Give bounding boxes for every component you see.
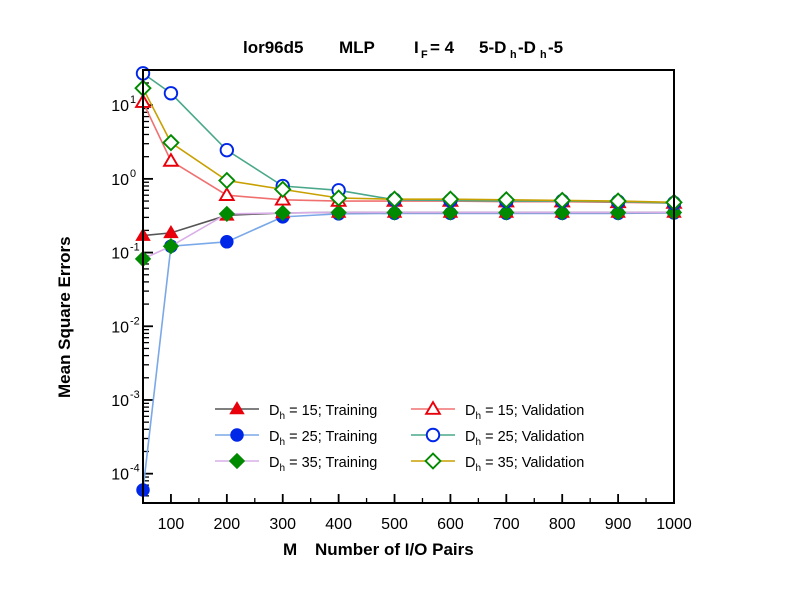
title-arch-c: -5	[548, 38, 563, 57]
title-model: MLP	[339, 38, 375, 57]
x-tick-label: 400	[325, 516, 352, 533]
title-arch-a: 5-D	[479, 38, 506, 57]
x-tick-label: 500	[381, 516, 408, 533]
y-tick-label: 10	[111, 98, 129, 115]
title-arch-b: -D	[518, 38, 536, 57]
figure-background	[0, 0, 785, 601]
title-arch-sub1: h	[510, 49, 517, 61]
y-tick-label: 10	[111, 393, 129, 410]
x-tick-label: 600	[437, 516, 464, 533]
title-if-subscript: F	[421, 49, 428, 61]
x-axis-title-text: Number of I/O Pairs	[315, 540, 474, 559]
x-tick-label: 800	[549, 516, 576, 533]
y-tick-label-exponent: -1	[130, 242, 140, 254]
x-tick-label: 100	[158, 516, 185, 533]
x-axis-symbol: M	[283, 540, 297, 559]
title-if-symbol: I	[414, 38, 419, 57]
legend-marker	[231, 429, 243, 441]
y-tick-label: 10	[111, 246, 129, 263]
title-dataset: lor96d5	[243, 38, 303, 57]
x-tick-label: 700	[493, 516, 520, 533]
y-tick-label-exponent: -2	[130, 315, 140, 327]
y-axis-title: Mean Square Errors	[55, 236, 74, 398]
y-tick-label: 10	[111, 467, 129, 484]
y-axis-title-text: Mean Square Errors	[55, 236, 74, 398]
x-tick-label: 1000	[656, 516, 692, 533]
y-tick-label-exponent: -3	[130, 389, 140, 401]
y-tick-label: 10	[111, 319, 129, 336]
x-tick-label: 300	[269, 516, 296, 533]
title-arch-sub2: h	[540, 49, 547, 61]
y-tick-label-exponent: 1	[130, 94, 136, 106]
legend-marker	[427, 429, 439, 441]
data-point	[221, 144, 233, 156]
y-tick-label: 10	[111, 172, 129, 189]
title-if-value: = 4	[430, 38, 455, 57]
x-tick-label: 200	[213, 516, 240, 533]
y-tick-label-exponent: -4	[130, 463, 140, 475]
chart-figure: lor96d5 MLP I F = 4 5-D h -D h -5 Mean S…	[0, 0, 785, 601]
y-tick-label-exponent: 0	[130, 168, 136, 180]
data-point	[221, 236, 233, 248]
x-tick-label: 900	[605, 516, 632, 533]
data-point	[165, 87, 177, 99]
